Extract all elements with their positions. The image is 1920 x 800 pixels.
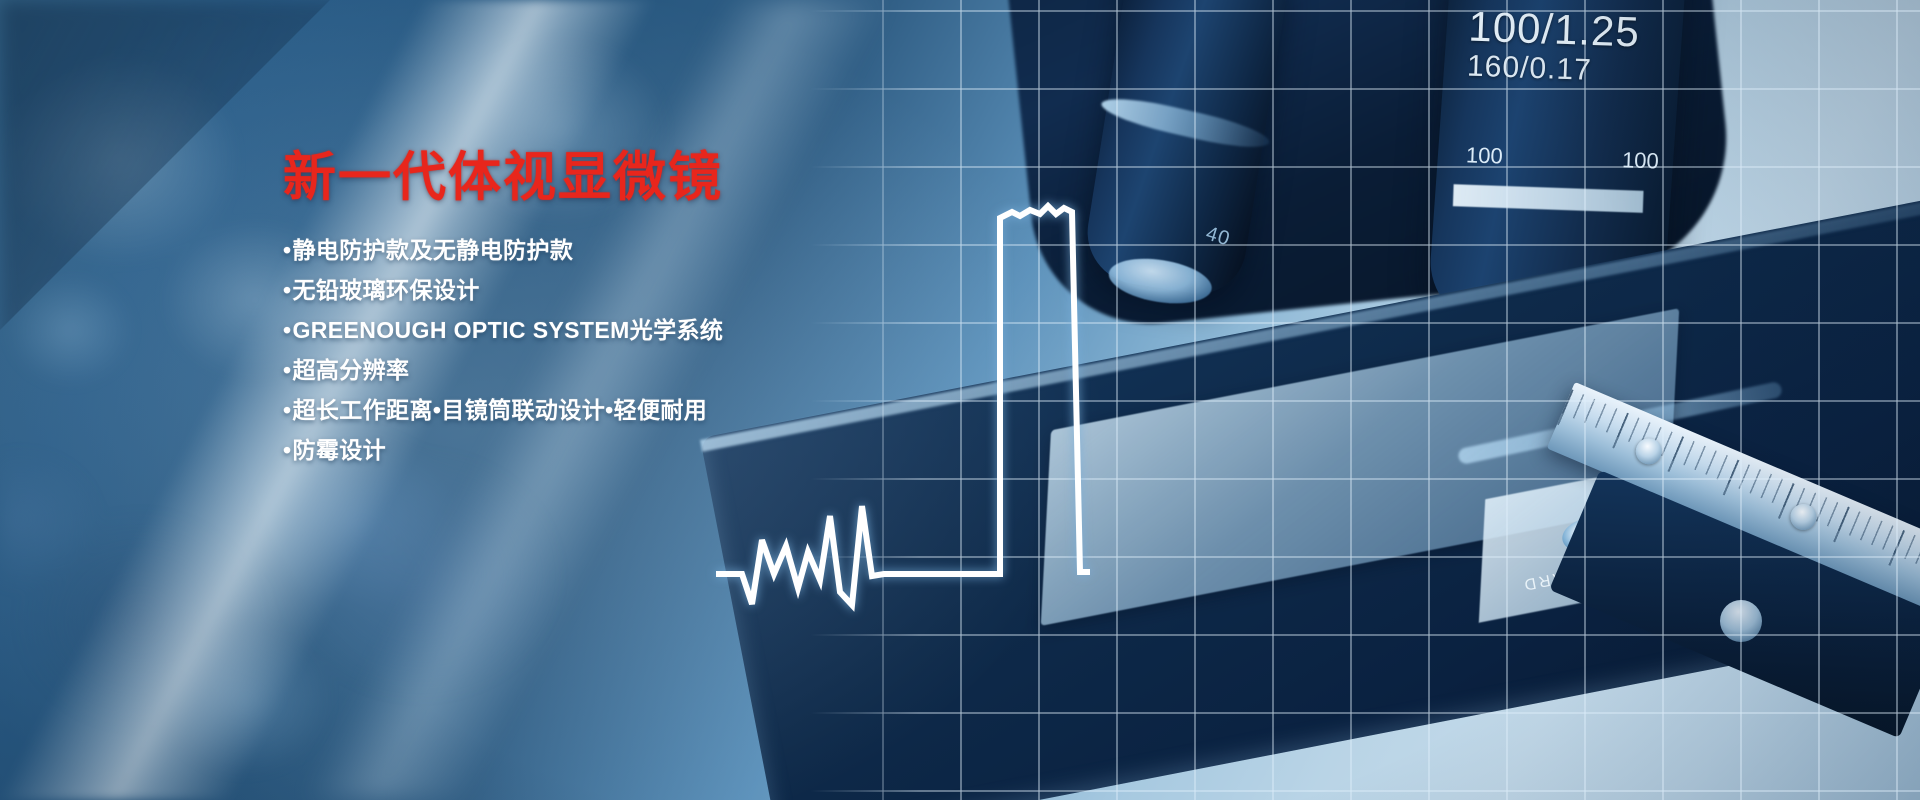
bullet-text: 无铅玻璃环保设计	[292, 277, 479, 303]
promo-banner: 40 100/1.25 160/0.17 100 100 POLLEN GUAR…	[0, 0, 1920, 800]
feature-bullet-item: •超高分辨率	[283, 359, 923, 382]
bullet-marker-icon: •	[283, 397, 291, 423]
bullet-text: GREENOUGH OPTIC SYSTEM光学系统	[292, 317, 723, 343]
bullet-text: 超高分辨率	[292, 357, 409, 383]
feature-bullet-item: •无铅玻璃环保设计	[283, 279, 923, 302]
bullet-text: 防霉设计	[292, 437, 386, 463]
feature-bullet-item: •超长工作距离•目镜筒联动设计•轻便耐用	[283, 399, 923, 422]
bullet-marker-icon: •	[283, 277, 291, 303]
banner-headline: 新一代体视显微镜	[283, 148, 923, 209]
bullet-marker-icon: •	[283, 317, 291, 343]
bullet-marker-icon: •	[283, 357, 291, 383]
feature-bullet-item: •防霉设计	[283, 439, 923, 462]
feature-bullet-item: •静电防护款及无静电防护款	[283, 239, 923, 262]
feature-bullet-list: •静电防护款及无静电防护款 •无铅玻璃环保设计 •GREENOUGH OPTIC…	[283, 239, 923, 462]
banner-text-block: 新一代体视显微镜 •静电防护款及无静电防护款 •无铅玻璃环保设计 •GREENO…	[283, 148, 923, 479]
feature-bullet-item: •GREENOUGH OPTIC SYSTEM光学系统	[283, 319, 923, 342]
bullet-text: 静电防护款及无静电防护款	[292, 237, 573, 263]
bullet-marker-icon: •	[283, 437, 291, 463]
bullet-marker-icon: •	[283, 237, 291, 263]
bullet-text: 超长工作距离•目镜筒联动设计•轻便耐用	[292, 397, 707, 423]
